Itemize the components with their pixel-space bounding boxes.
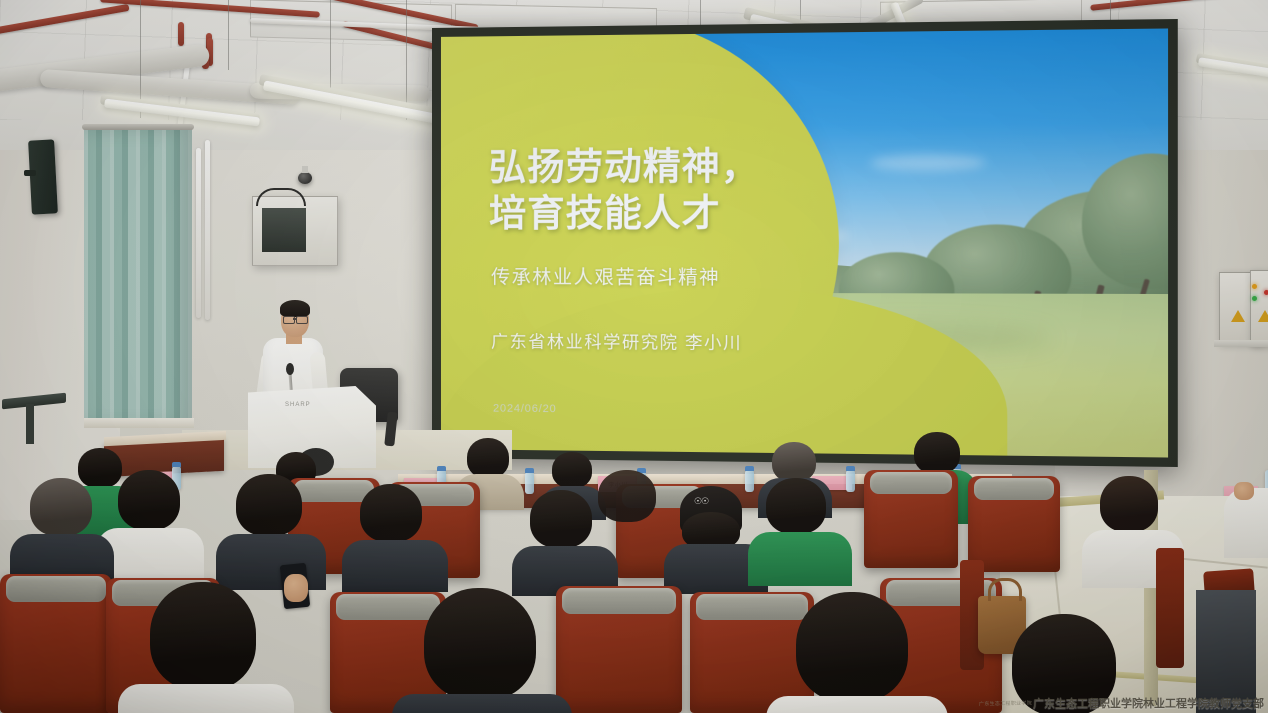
audience-hand-holding-phone <box>284 574 308 602</box>
audience-person-head <box>467 438 509 478</box>
water-bottle-cap <box>525 468 534 473</box>
side-table-leg <box>26 404 34 444</box>
water-bottle-cap <box>172 462 181 467</box>
audience-person-head <box>30 478 92 536</box>
audience-person-head <box>360 484 422 542</box>
water-bottle-cap <box>437 466 446 471</box>
audience-person-head <box>766 478 826 534</box>
panel-base-shelf <box>1214 340 1268 347</box>
slide-surface: 弘扬劳动精神， 培育技能人才 传承林业人艰苦奋斗精神 广东省林业科学研究院 李小… <box>441 28 1168 457</box>
audience-person-head <box>914 432 960 474</box>
high-voltage-warning-icon <box>1258 310 1268 322</box>
camera-mount <box>302 166 308 173</box>
seat-cushion <box>696 594 808 620</box>
audience-person-shoulders <box>392 694 572 713</box>
high-voltage-warning-icon <box>1231 310 1245 322</box>
audience-person-head <box>150 582 256 690</box>
slide-title: 弘扬劳动精神， 培育技能人才 <box>489 143 826 238</box>
audience-person-shoulders <box>766 696 948 713</box>
wall-conduit <box>205 140 210 320</box>
indicator-light-red <box>1264 290 1268 295</box>
seat-cushion <box>870 472 952 494</box>
equipment-cabinet-interior <box>262 208 306 252</box>
window-curtain <box>84 128 192 428</box>
audience-hand <box>1234 482 1254 500</box>
sprinkler-pipe <box>178 22 184 46</box>
slide-title-line2: 培育技能人才 <box>489 190 826 237</box>
wall-conduit <box>196 148 201 318</box>
audience-person-shoulders <box>748 532 852 586</box>
presenter-hair <box>280 300 310 317</box>
audience-person-shoulders <box>216 534 326 590</box>
audience-person-head <box>598 470 656 522</box>
water-bottle-cap <box>846 466 855 471</box>
hanger-wire <box>228 0 229 70</box>
cabinet-cable <box>256 188 306 206</box>
audience-person-head <box>78 448 122 488</box>
slide-author: 广东省林业科学研究院 李小川 <box>491 327 860 354</box>
audience-person-head <box>796 592 908 702</box>
podium-brand-label: SHARP <box>285 402 311 408</box>
hanger-wire <box>330 0 331 96</box>
audience-person-head <box>424 588 536 700</box>
seat-armrest <box>1156 548 1184 668</box>
water-bottle <box>846 470 855 492</box>
indicator-light-amber <box>1252 284 1257 289</box>
slide-date: 2024/06/20 <box>493 403 557 416</box>
audience-person-head <box>530 490 592 548</box>
projection-screen: 弘扬劳动精神， 培育技能人才 传承林业人艰苦奋斗精神 广东省林业科学研究院 李小… <box>432 19 1178 467</box>
audience-person-head <box>1100 476 1158 532</box>
indicator-light-green <box>1252 296 1257 301</box>
electrical-panel <box>1250 270 1268 346</box>
wall-speaker-bracket <box>24 170 36 176</box>
audience-person-head <box>772 442 816 482</box>
seat-cushion <box>6 576 106 602</box>
seat-cushion <box>336 594 440 620</box>
watermark-text: 广东生态工程职业学院林业工程学院教师党支部 <box>1033 695 1264 711</box>
water-bottle <box>745 470 754 492</box>
seat-cushion <box>562 588 676 614</box>
wall-speaker <box>28 139 58 214</box>
security-camera-icon <box>298 172 312 184</box>
curtain-rod <box>82 124 194 130</box>
watermark-stamp: 广东生态工程职业学院 <box>979 700 1032 708</box>
microphone-head <box>286 363 294 375</box>
handbag-handle <box>988 578 1022 601</box>
audience-person-shoulders <box>118 684 294 713</box>
slide-title-line1: 弘扬劳动精神， <box>489 143 826 191</box>
audience-person-head <box>118 470 180 530</box>
cap-logo: ☉☉ <box>694 496 708 507</box>
water-bottle <box>525 472 534 494</box>
slide-subtitle: 传承林业人艰苦奋斗精神 <box>491 262 839 290</box>
audience-person-head <box>236 474 302 536</box>
seat-cushion <box>974 478 1054 500</box>
lecture-hall-photo: 弘扬劳动精神， 培育技能人才 传承林业人艰苦奋斗精神 广东省林业科学研究院 李小… <box>0 0 1268 713</box>
audience-person-head <box>552 452 592 488</box>
window-sill <box>84 418 194 428</box>
water-bottle-cap <box>745 466 754 471</box>
audience-person-shoulders <box>342 540 448 592</box>
presenter-glasses-icon <box>296 316 308 324</box>
presenter-glasses-bridge <box>293 318 296 320</box>
